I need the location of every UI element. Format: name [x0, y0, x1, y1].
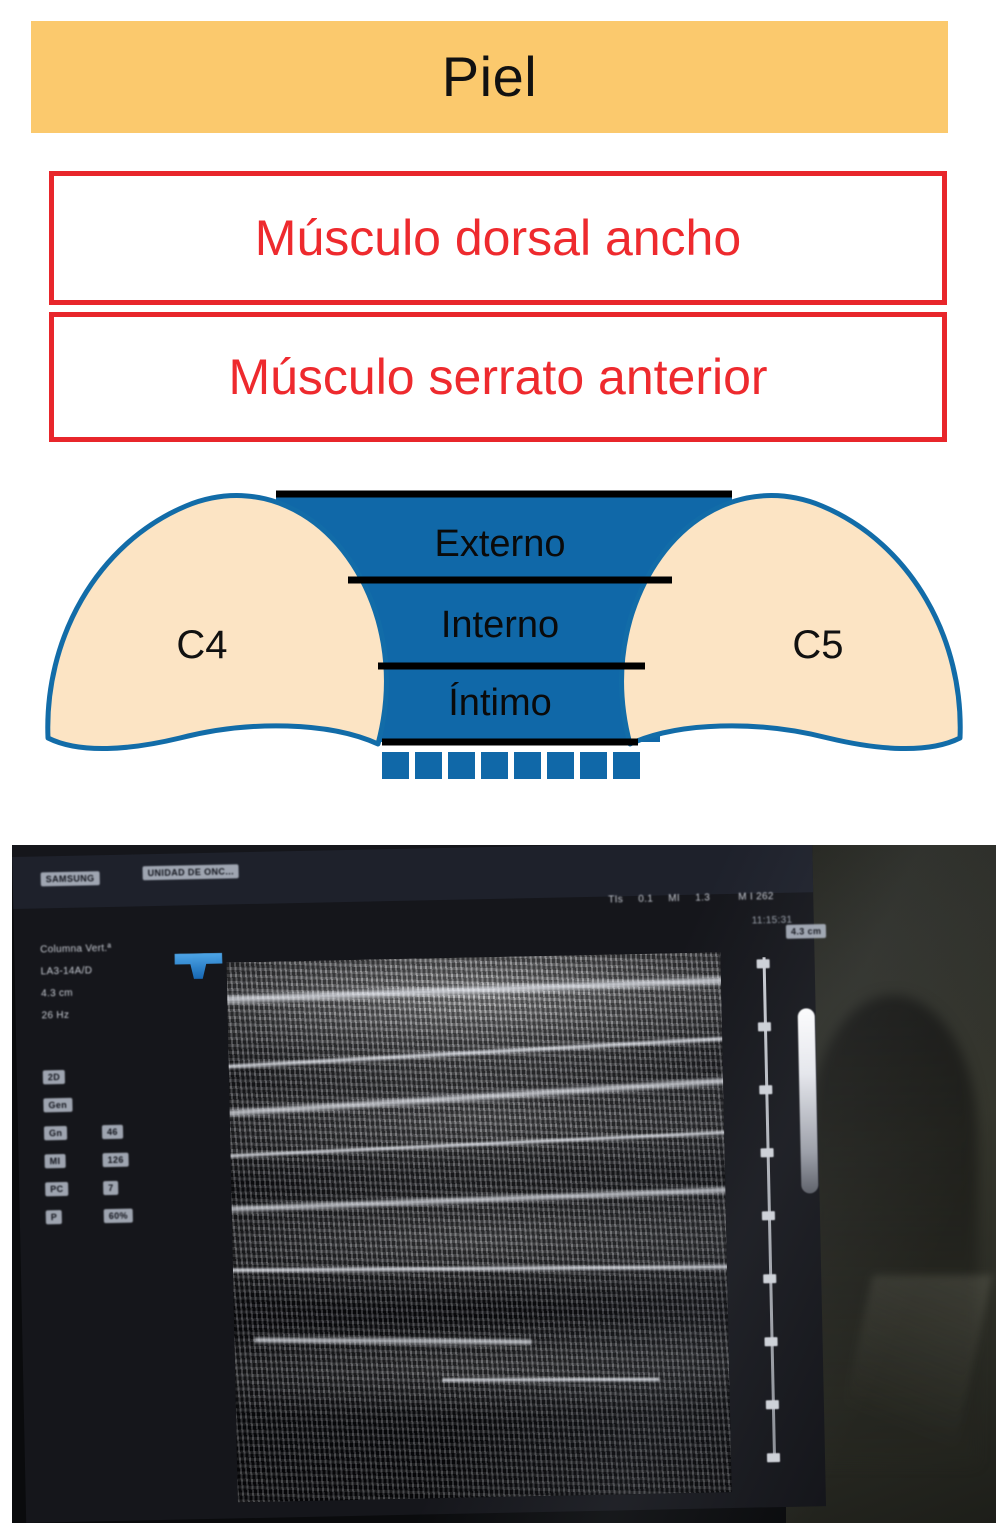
- vendor-logo-label: SAMSUNG: [41, 871, 100, 886]
- mode-2d-label: 2D: [43, 1070, 66, 1084]
- frequency-label: 26 Hz: [41, 1010, 69, 1022]
- ruler-tick: [762, 1211, 775, 1220]
- mode-p-value: 60%: [104, 1209, 134, 1224]
- mode-pc-label: PC: [45, 1182, 69, 1196]
- depth-readout-chip: 4.3 cm: [786, 924, 827, 939]
- mode-mi-value: 126: [102, 1153, 129, 1168]
- ruler-tick: [761, 1148, 774, 1157]
- mode-pc-value: 7: [103, 1181, 119, 1195]
- tgc-gain-bar[interactable]: [798, 1008, 819, 1193]
- mode-gn-value: 46: [102, 1125, 123, 1139]
- latissimus-dorsi-box: Músculo dorsal ancho: [49, 171, 947, 305]
- mi-value: 1.3: [695, 892, 710, 903]
- ruler-tick: [767, 1453, 780, 1462]
- mode-p-label: P: [46, 1210, 63, 1224]
- probe-marker-icon: [174, 953, 223, 980]
- mode-gn-label: Gn: [44, 1126, 68, 1140]
- ultrasound-photograph: SAMSUNG UNIDAD DE ONC... TIs 0.1 MI 1.3 …: [12, 845, 996, 1523]
- ruler-tick: [763, 1274, 776, 1283]
- mi-label: MI: [668, 893, 680, 904]
- ruler-tick: [759, 1085, 772, 1094]
- mode-mi-label: MI: [44, 1154, 65, 1168]
- ultrasound-topbar: [12, 845, 813, 909]
- serratus-anterior-box: Músculo serrato anterior: [49, 312, 947, 442]
- ruler-tick: [757, 959, 770, 968]
- ruler-tick: [764, 1337, 777, 1346]
- intercostal-space-diagram: Externo Interno Íntimo C4 C5: [0, 470, 1008, 790]
- pleura-dashed-line: [382, 752, 640, 779]
- fascia-line-pleura: [443, 1377, 660, 1384]
- ultrasound-screen: SAMSUNG UNIDAD DE ONC... TIs 0.1 MI 1.3 …: [12, 845, 826, 1523]
- machine-id-label: M I 262: [738, 891, 774, 903]
- muscle-layer-label-intimo: Íntimo: [448, 681, 551, 724]
- preset-label: Columna Vert.ª: [40, 943, 111, 955]
- ruler-tick: [766, 1400, 779, 1409]
- skin-layer-label: Piel: [442, 49, 537, 105]
- depth-ruler: [763, 957, 776, 1457]
- speckle-texture: [227, 952, 732, 1502]
- ti-label: TIs: [608, 894, 623, 905]
- rib-label-c4: C4: [176, 623, 227, 667]
- ti-value: 0.1: [638, 894, 653, 905]
- depth-label: 4.3 cm: [41, 988, 73, 1000]
- department-label: UNIDAD DE ONC...: [142, 864, 239, 880]
- ruler-tick: [758, 1022, 771, 1031]
- skin-layer-banner: Piel: [31, 21, 948, 133]
- muscle-layer-label-externo: Externo: [435, 523, 566, 565]
- muscle-layer-label-interno: Interno: [441, 604, 559, 646]
- bmode-image: [227, 952, 732, 1502]
- probe-label: LA3-14A/D: [41, 965, 93, 977]
- mode-gen-label: Gen: [43, 1098, 72, 1113]
- serratus-anterior-label: Músculo serrato anterior: [228, 352, 767, 402]
- latissimus-dorsi-label: Músculo dorsal ancho: [255, 213, 741, 263]
- rib-label-c5: C5: [792, 623, 843, 667]
